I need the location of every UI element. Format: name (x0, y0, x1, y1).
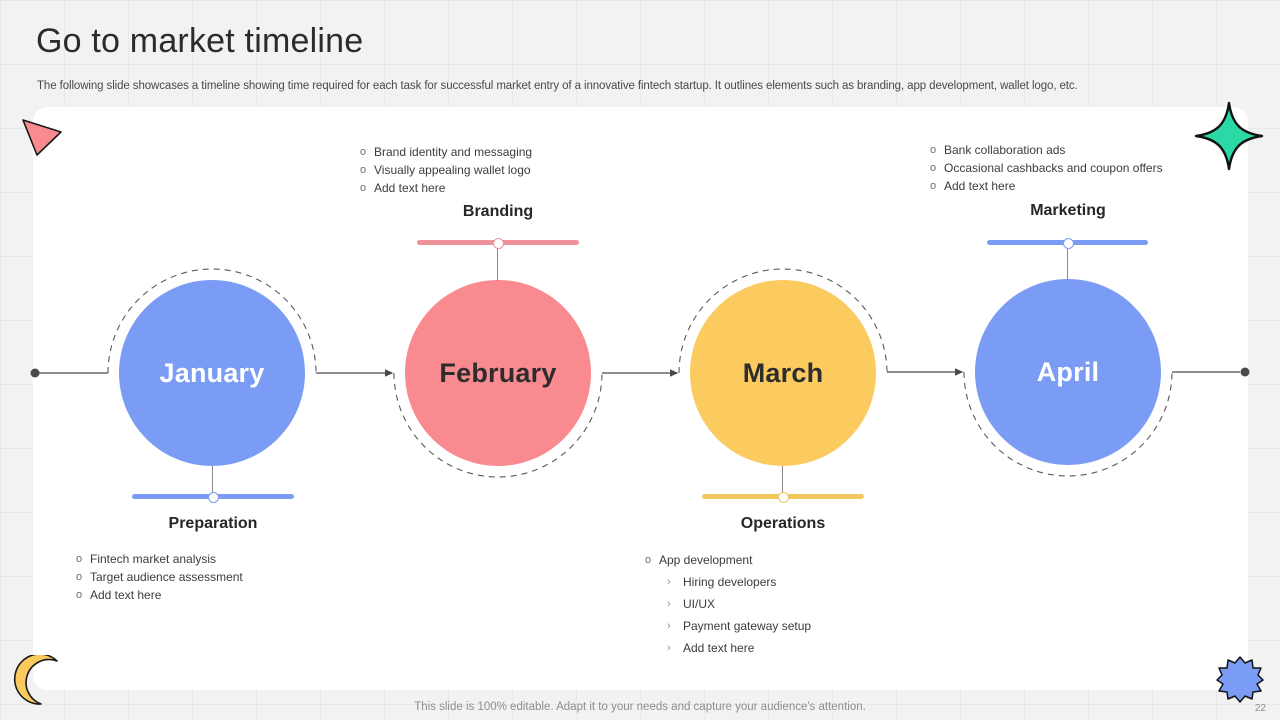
bullet-marker-icon: o (76, 569, 90, 585)
bullet-marker-icon: o (930, 178, 944, 194)
list-item: o Add text here (930, 178, 1163, 194)
stage-bullets-marketing: o Bank collaboration ads o Occasional ca… (930, 142, 1163, 196)
list-item-label: Brand identity and messaging (374, 144, 532, 160)
list-item-label: Add text here (374, 180, 445, 196)
bullet-marker-icon: o (360, 180, 374, 196)
list-item: › UI/UX (667, 596, 811, 612)
list-item-label: Bank collaboration ads (944, 142, 1065, 158)
stage-label-operations: Operations (683, 515, 883, 533)
bullet-marker-icon: o (645, 552, 659, 568)
page-number: 22 (1255, 703, 1266, 714)
list-item: › Hiring developers (667, 574, 811, 590)
list-item-label: Payment gateway setup (683, 618, 811, 634)
stage-knob-marketing (1063, 238, 1074, 249)
list-item: o App development (645, 552, 811, 568)
milestone-circle-april[interactable]: April (975, 279, 1161, 465)
list-item-label: Add text here (944, 178, 1015, 194)
bullet-marker-icon: o (76, 587, 90, 603)
list-item: o Add text here (360, 180, 532, 196)
list-item: o Fintech market analysis (76, 551, 243, 567)
bullet-marker-icon: o (76, 551, 90, 567)
footer-note: This slide is 100% editable. Adapt it to… (0, 701, 1280, 713)
list-item: o Visually appealing wallet logo (360, 162, 532, 178)
list-item: o Add text here (76, 587, 243, 603)
stage-bullets-operations: o App development › Hiring developers › … (645, 552, 811, 662)
milestone-circle-march[interactable]: March (690, 280, 876, 466)
list-item-label: Occasional cashbacks and coupon offers (944, 160, 1163, 176)
list-item: o Target audience assessment (76, 569, 243, 585)
list-item-label: App development (659, 552, 752, 568)
stage-label-branding: Branding (398, 203, 598, 221)
milestone-circle-february[interactable]: February (405, 280, 591, 466)
list-item-label: UI/UX (683, 596, 715, 612)
stage-label-marketing: Marketing (968, 202, 1168, 220)
stage-knob-preparation (208, 492, 219, 503)
list-item-label: Add text here (90, 587, 161, 603)
list-item-label: Hiring developers (683, 574, 776, 590)
bullet-marker-icon: o (930, 160, 944, 176)
list-item: › Add text here (667, 640, 811, 656)
list-item: › Payment gateway setup (667, 618, 811, 634)
stage-bullets-preparation: o Fintech market analysis o Target audie… (76, 551, 243, 605)
list-item: o Occasional cashbacks and coupon offers (930, 160, 1163, 176)
stage-knob-branding (493, 238, 504, 249)
stage-stem-preparation (212, 466, 213, 494)
list-item-label: Visually appealing wallet logo (374, 162, 531, 178)
chevron-right-icon: › (667, 574, 683, 590)
list-item-label: Target audience assessment (90, 569, 243, 585)
chevron-right-icon: › (667, 596, 683, 612)
stage-label-preparation: Preparation (113, 515, 313, 533)
chevron-right-icon: › (667, 640, 683, 656)
list-item-label: Add text here (683, 640, 754, 656)
list-item: o Brand identity and messaging (360, 144, 532, 160)
milestone-circle-january[interactable]: January (119, 280, 305, 466)
bullet-marker-icon: o (360, 162, 374, 178)
bullet-marker-icon: o (360, 144, 374, 160)
bullet-marker-icon: o (930, 142, 944, 158)
slide: Go to market timeline The following slid… (0, 0, 1280, 720)
list-item: o Bank collaboration ads (930, 142, 1163, 158)
stage-stem-operations (782, 466, 783, 494)
stage-knob-operations (778, 492, 789, 503)
stage-bullets-branding: o Brand identity and messaging o Visuall… (360, 144, 532, 198)
list-item-label: Fintech market analysis (90, 551, 216, 567)
chevron-right-icon: › (667, 618, 683, 634)
